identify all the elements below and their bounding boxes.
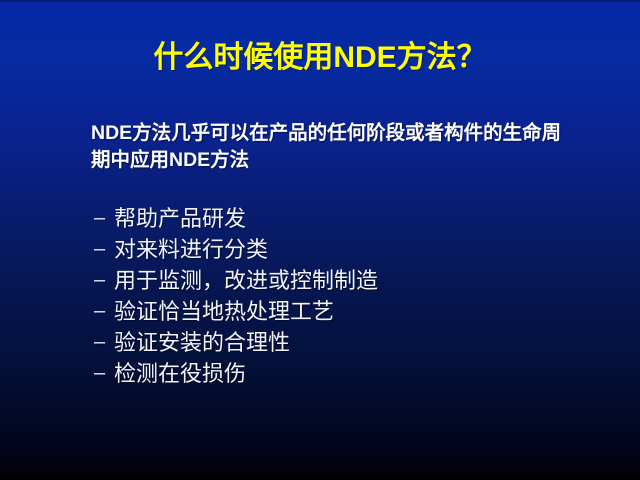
bullet-text: 用于监测，改进或控制制造 [114, 268, 378, 293]
list-item: – 对来料进行分类 [94, 234, 594, 265]
list-item: – 验证安装的合理性 [94, 327, 594, 358]
bullet-dash-icon: – [94, 296, 110, 327]
slide-bottom-edge [0, 475, 640, 480]
slide-subtitle: NDE方法几乎可以在产品的任何阶段或者构件的生命周期中应用NDE方法 [91, 120, 577, 174]
bullet-text: 验证安装的合理性 [114, 330, 290, 355]
bullet-dash-icon: – [94, 358, 110, 389]
bullet-text: 验证恰当地热处理工艺 [114, 299, 334, 324]
bullet-text: 帮助产品研发 [114, 206, 246, 231]
list-item: – 验证恰当地热处理工艺 [94, 296, 594, 327]
presentation-slide: 什么时候使用NDE方法？ NDE方法几乎可以在产品的任何阶段或者构件的生命周期中… [0, 0, 640, 480]
list-item: – 帮助产品研发 [94, 203, 594, 234]
bullet-dash-icon: – [94, 327, 110, 358]
bullet-dash-icon: – [94, 265, 110, 296]
list-item: – 检测在役损伤 [94, 358, 594, 389]
slide-title: 什么时候使用NDE方法？ [0, 38, 640, 78]
slide-top-edge [0, 0, 640, 2]
bullet-dash-icon: – [94, 203, 110, 234]
bullet-text: 检测在役损伤 [114, 361, 246, 386]
bullet-list: – 帮助产品研发 – 对来料进行分类 – 用于监测，改进或控制制造 – 验证恰当… [94, 203, 594, 389]
bullet-text: 对来料进行分类 [114, 237, 268, 262]
bullet-dash-icon: – [94, 234, 110, 265]
list-item: – 用于监测，改进或控制制造 [94, 265, 594, 296]
